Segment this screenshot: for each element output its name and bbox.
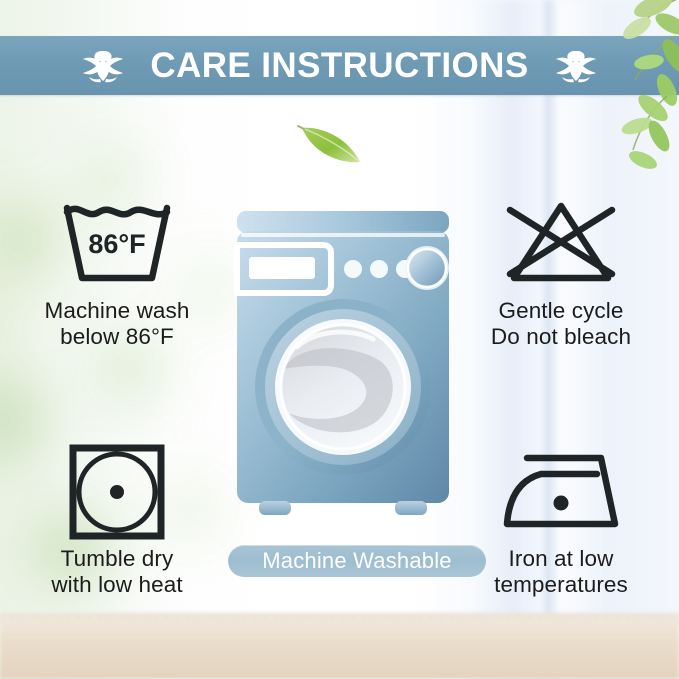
caption-line-2: temperatures xyxy=(494,572,628,598)
caption-line-1: Tumble dry xyxy=(51,546,182,572)
instruction-do-not-bleach: Gentle cycle Do not bleach xyxy=(456,196,666,351)
iron-low-temperature-icon xyxy=(497,444,625,540)
caption-line-2: with low heat xyxy=(51,572,182,598)
do-not-bleach-triangle-icon xyxy=(496,196,626,292)
instruction-caption-machine-wash: Machine wash below 86°F xyxy=(44,298,189,351)
instruction-machine-wash: 86°F Machine wash below 86°F xyxy=(12,196,222,351)
header-banner: CARE INSTRUCTIONS xyxy=(0,36,679,95)
care-instructions-infographic: CARE INSTRUCTIONS xyxy=(0,0,679,679)
fleur-de-lis-icon-right xyxy=(545,45,607,87)
instruction-iron: Iron at low temperatures xyxy=(456,444,666,599)
page-title: CARE INSTRUCTIONS xyxy=(150,48,528,83)
instruction-caption-iron: Iron at low temperatures xyxy=(494,546,628,599)
wooden-table-surface xyxy=(0,613,679,679)
instruction-caption-tumble-dry: Tumble dry with low heat xyxy=(51,546,182,599)
badge-label: Machine Washable xyxy=(262,550,451,572)
leaf-icon-floating xyxy=(296,118,368,175)
caption-line-1: Machine wash xyxy=(44,298,189,324)
instruction-caption-do-not-bleach: Gentle cycle Do not bleach xyxy=(491,298,631,351)
instruction-tumble-dry: Tumble dry with low heat xyxy=(12,444,222,599)
caption-line-2: below 86°F xyxy=(44,324,189,350)
machine-washable-badge: Machine Washable xyxy=(228,545,486,577)
caption-line-2: Do not bleach xyxy=(491,324,631,350)
caption-line-1: Gentle cycle xyxy=(491,298,631,324)
washing-machine-icon xyxy=(231,207,455,527)
wash-temperature-value: 86°F xyxy=(88,229,145,259)
fleur-de-lis-icon-left xyxy=(72,45,134,87)
wash-tub-icon: 86°F xyxy=(55,196,179,292)
tumble-dry-low-icon xyxy=(67,444,167,540)
caption-line-1: Iron at low xyxy=(494,546,628,572)
